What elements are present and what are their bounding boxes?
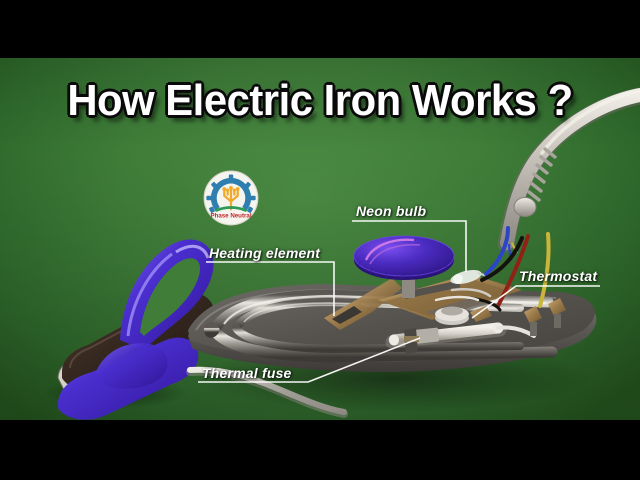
callout-label-neon-bulb: Neon bulb [356, 203, 426, 219]
phase-neutral-logo: Phase Neutral [203, 170, 259, 226]
page-title: How Electric Iron Works ? [16, 76, 624, 126]
callout-label-thermostat: Thermostat [519, 268, 597, 284]
letterbox-bar-bottom [0, 420, 640, 480]
letterbox-bar-top [0, 0, 640, 58]
callout-label-heating-element: Heating element [209, 245, 320, 261]
logo-text: Phase Neutral [210, 213, 251, 220]
callout-label-thermal-fuse: Thermal fuse [202, 365, 292, 381]
scene-artwork [0, 0, 640, 480]
video-frame: Heating element Neon bulb Thermostat The… [0, 0, 640, 480]
